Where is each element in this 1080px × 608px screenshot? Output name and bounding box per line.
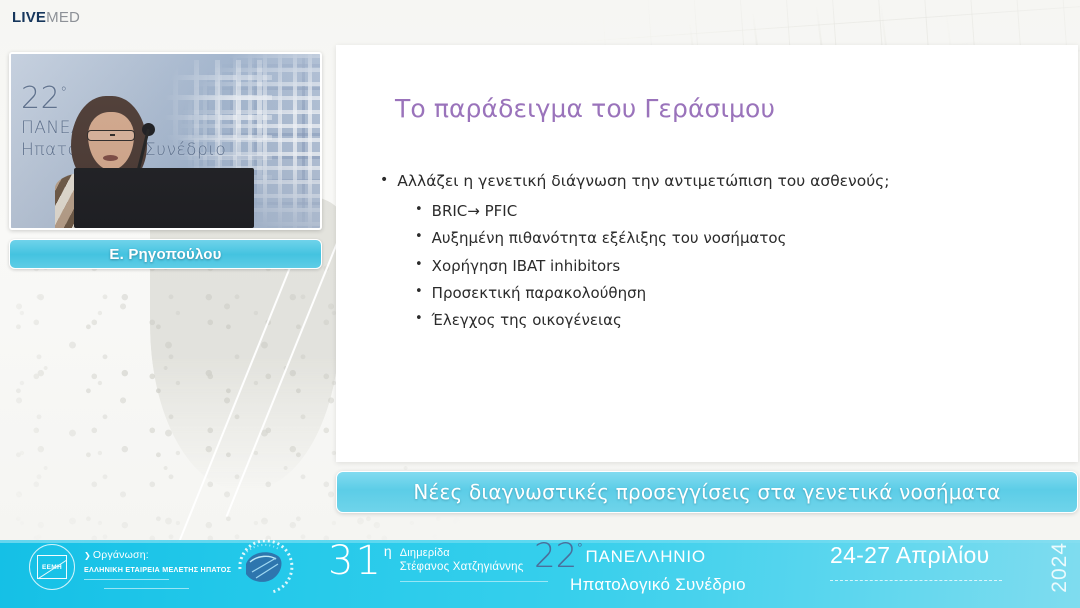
speaker-video-thumbnail[interactable]: 22° ΠΑΝΕΛΛΗΝΙΟ Ηπατολογικό Συνέδριο bbox=[9, 52, 322, 230]
congress-line-2: Ηπατολογικό Συνέδριο bbox=[570, 575, 746, 595]
slide-title: Το παράδειγμα του Γεράσιμου bbox=[395, 94, 775, 123]
congress-degree: ° bbox=[577, 540, 582, 555]
bullet-level2: • Προσεκτική παρακολούθηση bbox=[415, 281, 1054, 305]
bullet-glyph-icon: • bbox=[380, 169, 388, 193]
slide-sub-bullet-list: • BRIC→ PFIC • Αυξημένη πιθανότητα εξέλι… bbox=[380, 199, 1054, 332]
bullet-level2: • Έλεγχος της οικογένειας bbox=[415, 308, 1054, 332]
presentation-viewer: LIVEMED 22° ΠΑΝΕΛΛΗΝΙΟ Ηπατολογικό Συνέδ… bbox=[0, 0, 1080, 608]
congress-dates-block: 24-27 Απριλίου bbox=[830, 542, 1002, 581]
bullet-level1: • Αλλάζει η γενετική διάγνωση την αντιμε… bbox=[380, 169, 1054, 193]
speaker-mouth bbox=[103, 155, 118, 161]
session-title-label: Νέες διαγνωστικές προσεγγίσεις στα γενετ… bbox=[413, 480, 1000, 504]
organizer-rule bbox=[84, 579, 169, 580]
congress-line-1: ΠΑΝΕΛΛΗΝΙΟ bbox=[585, 547, 705, 567]
congress-number: 22 bbox=[534, 539, 577, 573]
arrow-right-icon: ❯ bbox=[84, 551, 91, 560]
bullet-level2-text: Αυξημένη πιθανότητα εξέλιξης του νοσήματ… bbox=[432, 226, 787, 250]
congress-block: 22 ° ΠΑΝΕΛΛΗΝΙΟ Ηπατολογικό Συνέδριο bbox=[534, 539, 746, 595]
logo-text-med: MED bbox=[46, 9, 80, 26]
bullet-level2: • Χορήγηση IBAT inhibitors bbox=[415, 254, 1054, 278]
organizer-label: Οργάνωση: bbox=[93, 549, 149, 561]
bullet-glyph-icon: • bbox=[415, 254, 423, 278]
bullet-glyph-icon: • bbox=[415, 281, 423, 305]
speaker-name-label: Ε. Ρηγοπούλου bbox=[109, 246, 221, 263]
backdrop-degree: ° bbox=[60, 85, 68, 101]
bullet-level2: • Αυξημένη πιθανότητα εξέλιξης του νοσήμ… bbox=[415, 226, 1054, 250]
organizer-name: ΕΛΛΗΝΙΚΗ ΕΤΑΙΡΕΙΑ ΜΕΛΕΤΗΣ ΗΠΑΤΟΣ bbox=[84, 565, 231, 574]
congress-row-1: 22 ° ΠΑΝΕΛΛΗΝΙΟ bbox=[534, 539, 746, 573]
liver-logo-icon bbox=[232, 538, 298, 600]
bullet-level2-text: Έλεγχος της οικογένειας bbox=[432, 308, 622, 332]
dates-dashed-rule bbox=[830, 580, 1002, 581]
meeting-label-line1: Διημερίδα bbox=[400, 546, 548, 560]
meeting-number: 31 bbox=[328, 541, 383, 581]
slide-canvas: Το παράδειγμα του Γεράσιμου • Αλλάζει η … bbox=[336, 45, 1078, 462]
bullet-glyph-icon: • bbox=[415, 199, 423, 223]
bullet-level2-text: Χορήγηση IBAT inhibitors bbox=[432, 254, 620, 278]
bullet-level2-text: Προσεκτική παρακολούθηση bbox=[432, 281, 646, 305]
session-title-bar: Νέες διαγνωστικές προσεγγίσεις στα γενετ… bbox=[336, 471, 1078, 513]
society-logo-text: ΕΕΜΗ bbox=[42, 564, 62, 571]
podium bbox=[74, 168, 254, 228]
speaker-glasses bbox=[87, 130, 135, 141]
backdrop-number: 22 bbox=[21, 81, 60, 116]
slide-bullet-list: • Αλλάζει η γενετική διάγνωση την αντιμε… bbox=[380, 169, 1054, 336]
bullet-glyph-icon: • bbox=[415, 226, 423, 250]
bullet-level1-text: Αλλάζει η γενετική διάγνωση την αντιμετώ… bbox=[397, 169, 889, 193]
society-logo: ΕΕΜΗ bbox=[29, 544, 75, 590]
meeting-ordinal: η bbox=[384, 543, 392, 559]
bullet-glyph-icon: • bbox=[415, 308, 423, 332]
congress-year: 2024 bbox=[1048, 542, 1072, 593]
bullet-level2: • BRIC→ PFIC bbox=[415, 199, 1054, 223]
meeting-label-line2: Στέφανος Χατζηγιάννης bbox=[400, 560, 548, 575]
organizer-label-row: ❯Οργάνωση: bbox=[84, 549, 231, 561]
meeting-label: Διημερίδα Στέφανος Χατζηγιάννης bbox=[400, 546, 548, 582]
logo-text-live: LIVE bbox=[12, 9, 46, 26]
meeting-number-block: 31 η Διημερίδα Στέφανος Χατζηγιάννης bbox=[328, 541, 548, 582]
bullet-level2-text: BRIC→ PFIC bbox=[432, 199, 518, 223]
society-logo-mark: ΕΕΜΗ bbox=[37, 555, 67, 579]
livemed-logo[interactable]: LIVEMED bbox=[12, 9, 80, 26]
meeting-rule bbox=[400, 581, 548, 582]
speaker-name-badge: Ε. Ρηγοπούλου bbox=[9, 239, 322, 269]
organizer-block: ❯Οργάνωση: ΕΛΛΗΝΙΚΗ ΕΤΑΙΡΕΙΑ ΜΕΛΕΤΗΣ ΗΠΑ… bbox=[84, 549, 231, 589]
congress-dates: 24-27 Απριλίου bbox=[830, 542, 1002, 569]
organizer-rule-secondary bbox=[104, 588, 189, 589]
